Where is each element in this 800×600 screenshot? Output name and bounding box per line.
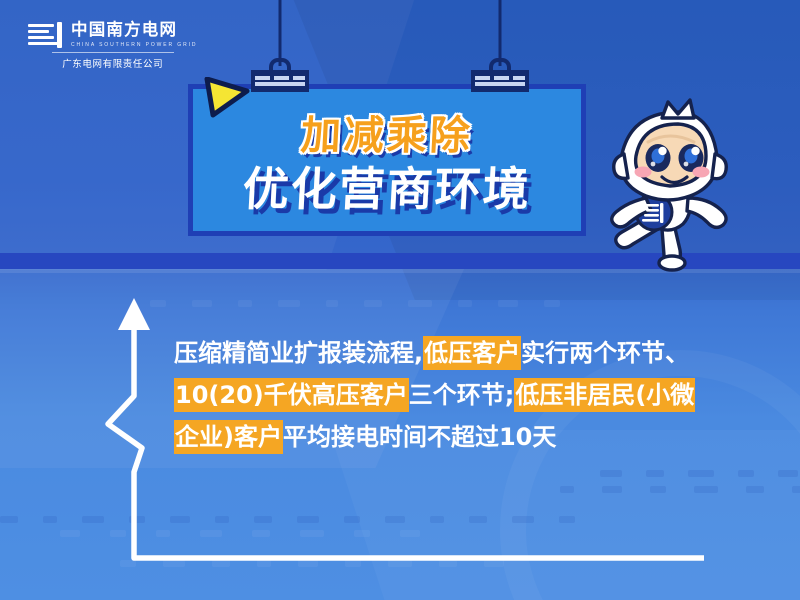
logo-text-group: 中国南方电网 CHINA SOUTHERN POWER GRID <box>71 22 197 47</box>
highlighted-phrase: 10(20)千伏高压客户 <box>174 378 409 412</box>
plain-phrase: 实行两个环节、 <box>521 339 689 367</box>
hook-plate-icon <box>471 70 529 92</box>
brand-logo: 中国南方电网 CHINA SOUTHERN POWER GRID 广东电网有限责… <box>28 22 197 70</box>
infographic-poster: 中国南方电网 CHINA SOUTHERN POWER GRID 广东电网有限责… <box>0 0 800 600</box>
logo-top-row: 中国南方电网 CHINA SOUTHERN POWER GRID <box>28 22 197 48</box>
logo-company-name-cn: 中国南方电网 <box>71 22 197 39</box>
power-grid-logo-icon <box>28 22 62 48</box>
logo-subsidiary-name: 广东电网有限责任公司 <box>62 56 163 70</box>
body-text-line: 10(20)千伏高压客户三个环节;低压非居民(小微 <box>174 374 714 416</box>
logo-company-name-en: CHINA SOUTHERN POWER GRID <box>71 42 197 48</box>
plain-phrase: 三个环节; <box>409 381 515 409</box>
plain-phrase: 压缩精简业扩报装流程, <box>174 339 423 367</box>
title-line-2: 优化营商环境 <box>191 153 582 219</box>
logo-divider-rule <box>52 52 174 53</box>
hook-cord-icon <box>499 0 502 66</box>
highlighted-phrase: 低压非居民(小微 <box>514 378 695 412</box>
body-paragraph: 压缩精简业扩报装流程,低压客户实行两个环节、10(20)千伏高压客户三个环节;低… <box>174 332 714 458</box>
highlighted-phrase: 企业)客户 <box>174 420 283 454</box>
hook-plate-icon <box>251 70 309 92</box>
hook-cord-icon <box>279 0 282 66</box>
running-mascot-character <box>588 98 778 273</box>
plain-phrase: 平均接电时间不超过10天 <box>283 423 556 451</box>
body-text-line: 企业)客户平均接电时间不超过10天 <box>174 416 714 458</box>
title-banner: 加减乘除 优化营商环境 <box>188 84 586 236</box>
highlighted-phrase: 低压客户 <box>423 336 521 370</box>
body-text-line: 压缩精简业扩报装流程,低压客户实行两个环节、 <box>174 332 714 374</box>
